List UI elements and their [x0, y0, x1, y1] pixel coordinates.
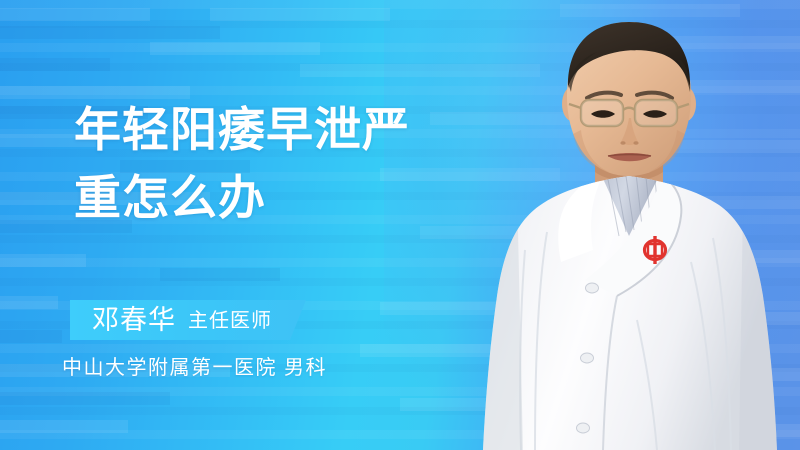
page-title: 年轻阳痿早泄严 重怎么办 [74, 96, 504, 232]
doctor-affiliation: 中山大学附属第一医院 男科 [62, 358, 327, 378]
doctor-name-banner: 邓春华 主任医师 [70, 300, 306, 340]
title-line-1: 年轻阳痿早泄严 [74, 96, 504, 164]
doctor-video-cover: 年轻阳痿早泄严 重怎么办 邓春华 主任医师 中山大学附属第一医院 男科 [0, 0, 800, 450]
doctor-name: 邓春华 [92, 307, 176, 334]
doctor-title: 主任医师 [188, 311, 272, 331]
title-line-2: 重怎么办 [74, 164, 504, 232]
